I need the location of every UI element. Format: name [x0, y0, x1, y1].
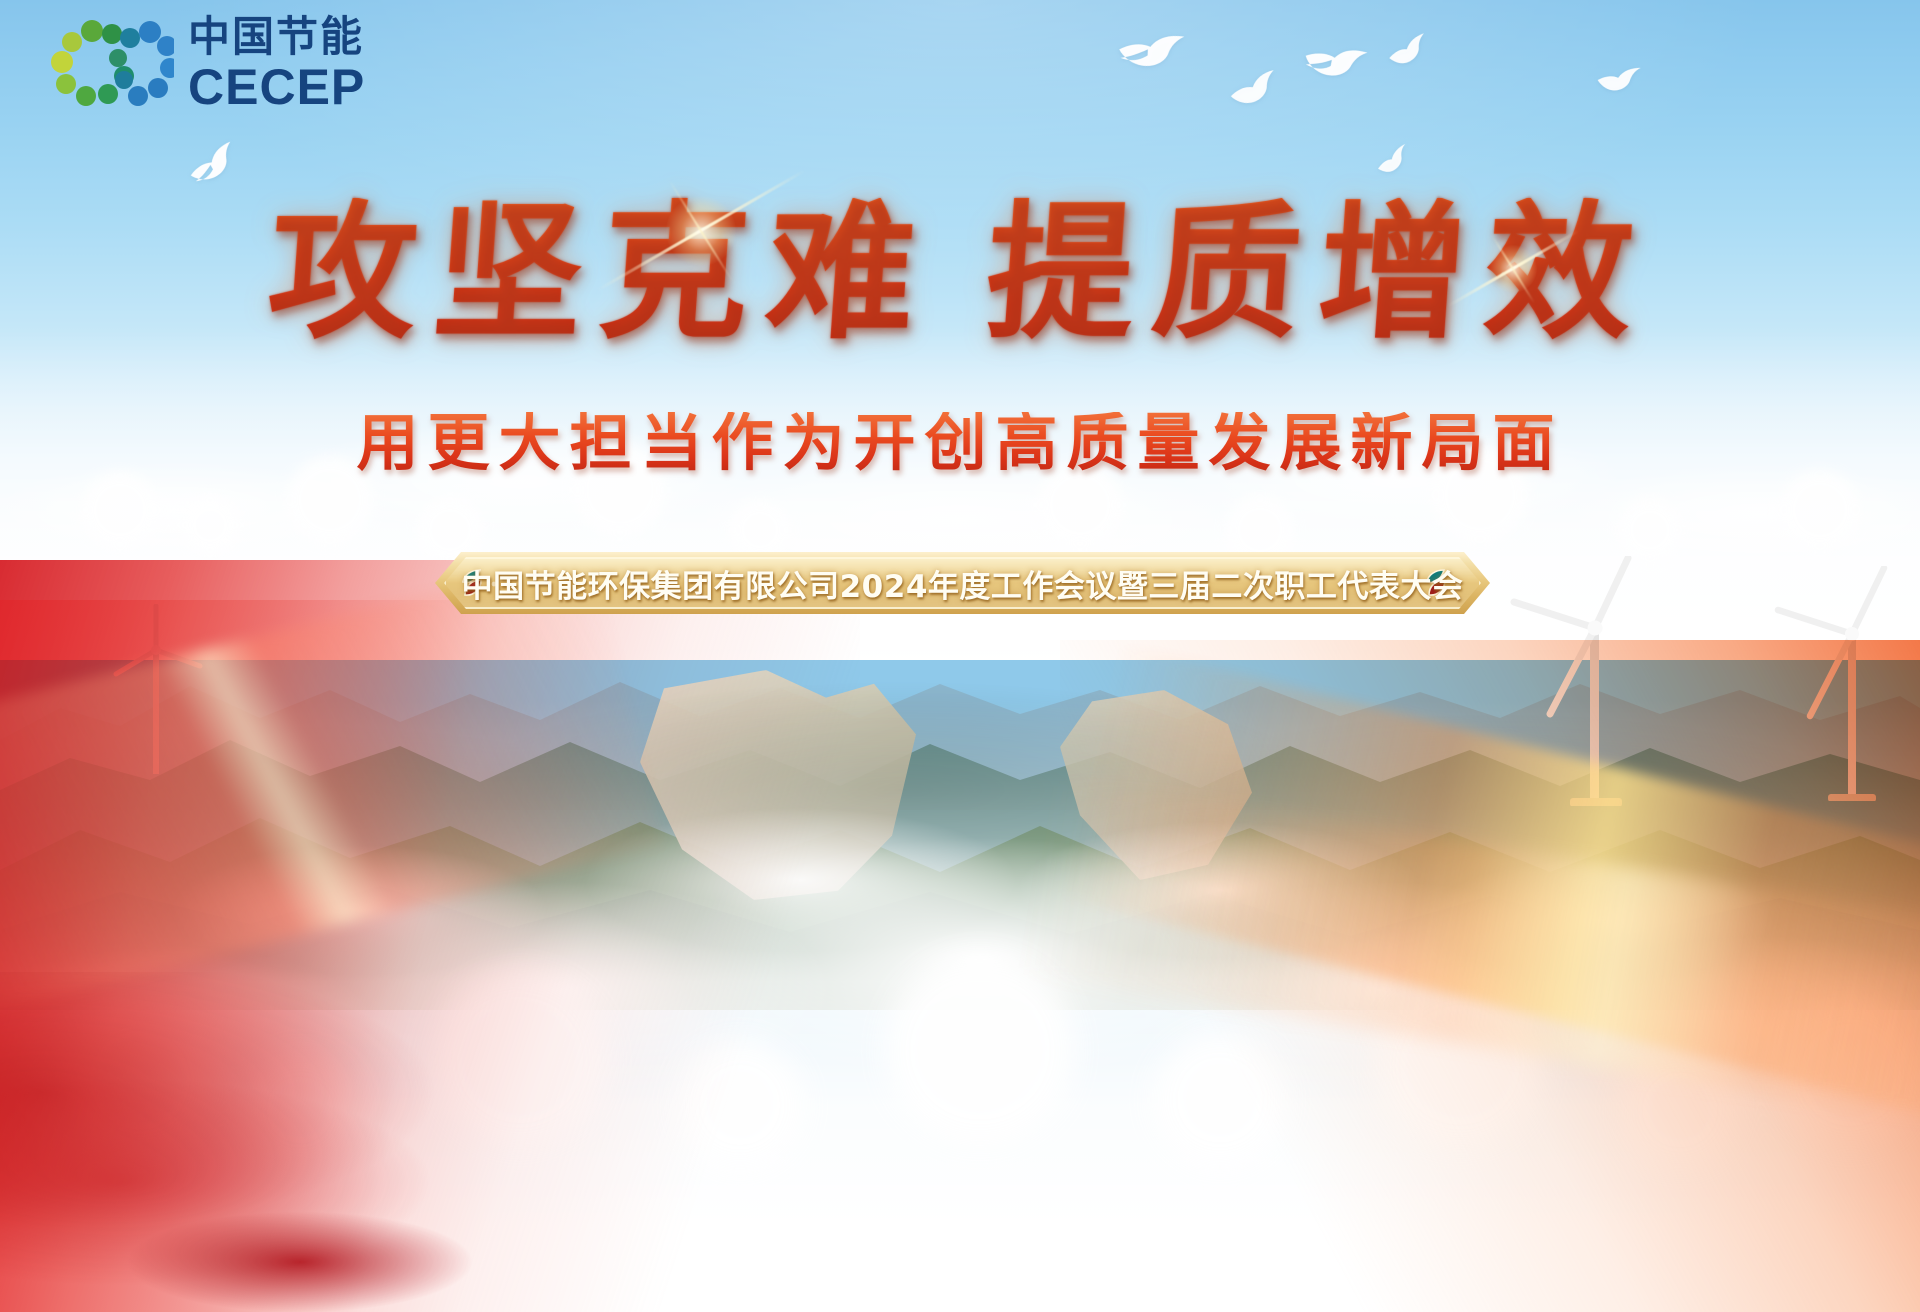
- brand-name-en: CECEP: [188, 62, 365, 112]
- title-main-part2: 提质增效: [981, 185, 1657, 359]
- cecep-logo[interactable]: 中国节能 CECEP: [46, 16, 365, 112]
- dove-icon: [1594, 61, 1644, 97]
- page-subtitle: 用更大担当作为开创高质量发展新局面: [0, 412, 1920, 474]
- event-banner: 中国节能环保集团有限公司2024年度工作会议暨三届二次职工代表大会: [435, 552, 1490, 614]
- banner-title-text: 中国节能环保集团有限公司2024年度工作会议暨三届二次职工代表大会: [435, 552, 1490, 614]
- cecep-logo-text: 中国节能 CECEP: [188, 16, 365, 112]
- title-main-part1: 攻坚克难: [263, 185, 939, 359]
- page-title: 攻坚克难提质增效: [0, 198, 1920, 346]
- red-cloud-bottom: [0, 972, 1100, 1312]
- brand-name-cn: 中国节能: [188, 16, 365, 58]
- cecep-circular-dots-logo: [46, 18, 174, 110]
- poster-canvas: 中国节能 CECEP 攻坚克难提质增效 用更大担当作为开创高质量发展新局面: [0, 0, 1920, 1312]
